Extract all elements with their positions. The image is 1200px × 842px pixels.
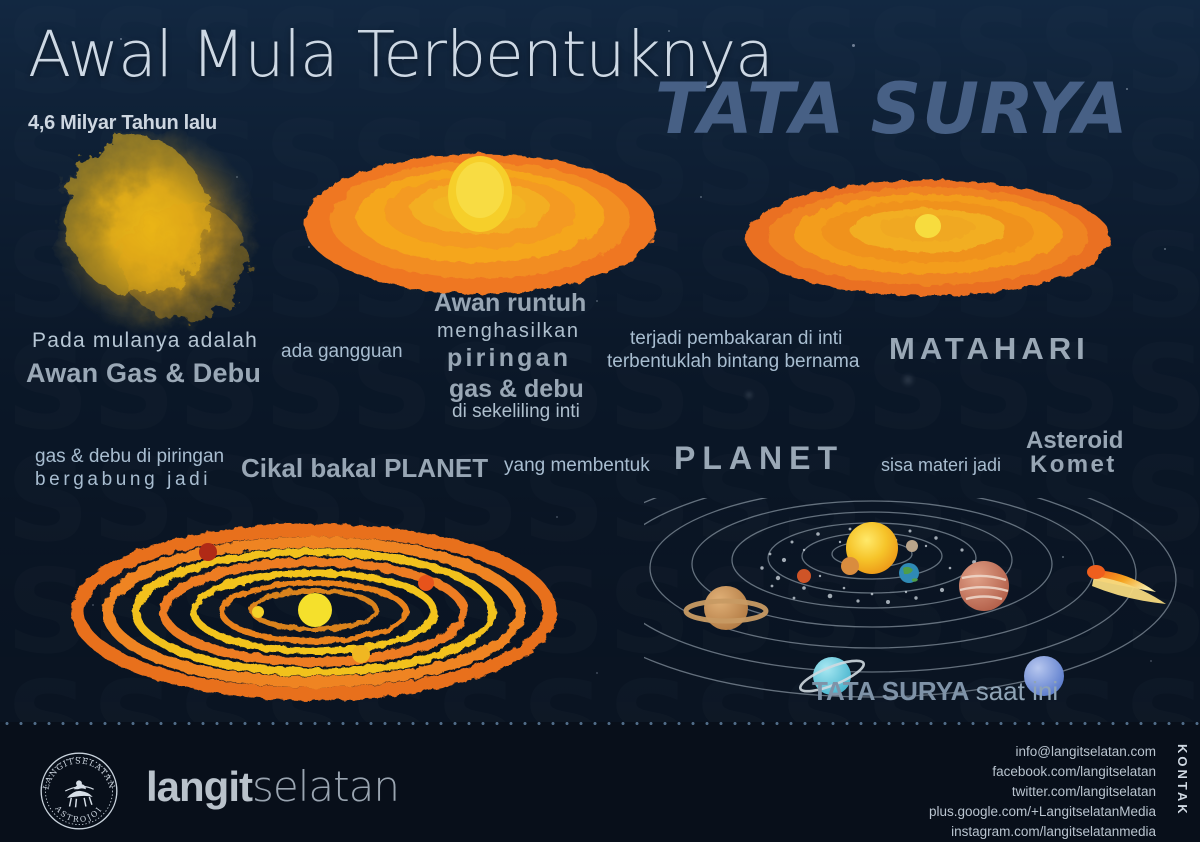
brand-thin: selatan bbox=[252, 762, 399, 811]
label-accretion-line1: gas & debu di piringan bbox=[35, 447, 224, 467]
planetesimal-3 bbox=[418, 575, 434, 591]
seal-figure bbox=[65, 780, 93, 807]
jupiter bbox=[959, 561, 1009, 611]
contact-facebook[interactable]: facebook.com/langitselatan bbox=[929, 762, 1156, 782]
page-subtitle: 4,6 Milyar Tahun lalu bbox=[28, 113, 217, 134]
contact-list: info@langitselatan.com facebook.com/lang… bbox=[929, 742, 1156, 842]
comet bbox=[1087, 565, 1166, 604]
planetesimal-2 bbox=[199, 543, 217, 561]
label-planets-connector: yang membentuk bbox=[504, 456, 650, 476]
label-asteroid: Asteroid bbox=[1026, 428, 1123, 453]
mars bbox=[797, 569, 811, 583]
brand-wordmark: langitselatan bbox=[146, 762, 399, 811]
planet-formation-rings-illustration bbox=[62, 512, 578, 712]
gas-dust-cloud-illustration bbox=[8, 112, 308, 362]
label-planets: PLANET bbox=[674, 442, 844, 476]
planetesimal-4 bbox=[352, 645, 370, 663]
contact-instagram[interactable]: instagram.com/langitselatanmedia bbox=[929, 822, 1156, 842]
label-disturbance: ada gangguan bbox=[281, 342, 403, 362]
label-collapse-line5: di sekeliling inti bbox=[452, 402, 580, 422]
label-accretion-result: Cikal bakal PLANET bbox=[241, 455, 488, 483]
label-today-bold: TATA SURYA bbox=[812, 676, 976, 706]
label-comet: Komet bbox=[1030, 452, 1117, 477]
footer-divider bbox=[0, 722, 1200, 725]
brand-bold: langit bbox=[146, 763, 252, 810]
protoplanetary-disk-illustration bbox=[300, 132, 660, 307]
label-star-line2: terbentuklah bintang bernama bbox=[607, 352, 859, 372]
label-star-name: MATAHARI bbox=[889, 333, 1090, 366]
label-collapse-line3: piringan bbox=[447, 345, 571, 372]
label-collapse-line2: menghasilkan bbox=[437, 321, 580, 342]
label-leftovers-connector: sisa materi jadi bbox=[881, 456, 1001, 475]
label-cloud-line1: Pada mulanya adalah bbox=[32, 330, 258, 352]
page-heading-highlight: TATA SURYA bbox=[655, 72, 1129, 146]
langitselatan-seal-logo: LANGITSELATAN ASTROJOI bbox=[36, 748, 122, 834]
label-accretion-line2: bergabung jadi bbox=[35, 470, 211, 490]
infographic-canvas: S bbox=[0, 0, 1200, 842]
svg-text:ASTROJOI: ASTROJOI bbox=[53, 803, 105, 824]
seal-text-bottom: ASTROJOI bbox=[53, 803, 105, 824]
venus bbox=[841, 557, 859, 575]
label-star-line1: terjadi pembakaran di inti bbox=[630, 329, 842, 349]
mercury bbox=[906, 540, 918, 552]
star-formation-disk-illustration bbox=[742, 172, 1114, 302]
proto-sun bbox=[298, 593, 332, 627]
label-collapse-line1: Awan runtuh bbox=[434, 290, 586, 317]
label-cloud-line2: Awan Gas & Debu bbox=[26, 359, 261, 388]
contact-section-label: KONTAK bbox=[1175, 744, 1190, 817]
label-collapse-line4: gas & debu bbox=[449, 376, 584, 403]
contact-googleplus[interactable]: plus.google.com/+LangitselatanMedia bbox=[929, 802, 1156, 822]
label-today-light: saat ini bbox=[976, 676, 1058, 706]
contact-twitter[interactable]: twitter.com/langitselatan bbox=[929, 782, 1156, 802]
planetesimal-1 bbox=[252, 606, 264, 618]
contact-email[interactable]: info@langitselatan.com bbox=[929, 742, 1156, 762]
label-today: TATA SURYA saat ini bbox=[812, 678, 1058, 706]
